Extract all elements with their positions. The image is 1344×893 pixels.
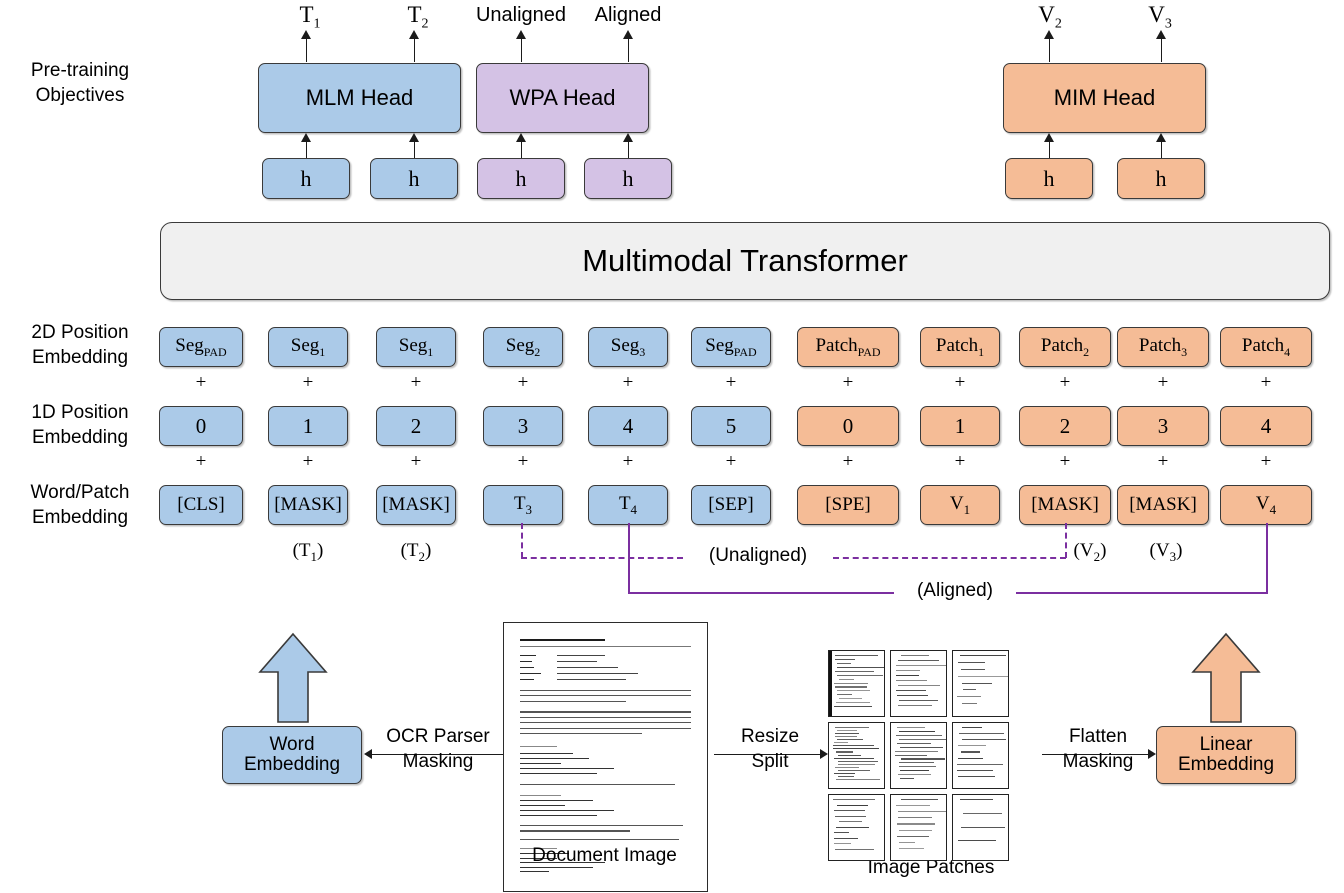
patch-text-line: [896, 735, 942, 736]
patch-text-line: [897, 823, 935, 824]
patch-text-line: [833, 748, 879, 749]
document-text-line: [520, 661, 532, 662]
patch-text-line: [897, 836, 929, 837]
hidden-state-box-4[interactable]: h: [584, 158, 672, 199]
pos1d-embedding-box-10[interactable]: 3: [1117, 406, 1209, 446]
pos2d-embedding-box-4[interactable]: Seg2: [483, 327, 563, 367]
pos2d-embedding-label: Patch3: [1139, 336, 1187, 358]
document-text-line: [557, 679, 626, 680]
token-alias-label-3: (T2): [371, 540, 461, 565]
pos2d-embedding-label: SegPAD: [705, 336, 756, 358]
plus-sign-1d-token-6: +: [716, 451, 746, 473]
pos2d-embedding-box-7[interactable]: PatchPAD: [797, 327, 899, 367]
patch-text-line: [962, 703, 977, 704]
pos2d-embedding-box-6[interactable]: SegPAD: [691, 327, 771, 367]
patch-text-line: [962, 739, 1006, 740]
h-to-head-line-4: [628, 140, 629, 158]
document-text-line: [520, 673, 540, 674]
document-text-line: [520, 825, 682, 826]
pos2d-embedding-label: Patch4: [1242, 336, 1290, 358]
pos1d-embedding-box-3[interactable]: 2: [376, 406, 456, 446]
patch-text-line: [897, 727, 925, 728]
patch-text-line: [958, 840, 995, 841]
pos2d-embedding-box-8[interactable]: Patch1: [920, 327, 1000, 367]
patch-text-line: [839, 821, 862, 822]
patch-text-line: [960, 655, 1006, 656]
patch-text-line: [896, 680, 927, 681]
patch-text-line: [901, 758, 945, 759]
patch-text-line: [839, 679, 854, 680]
word-patch-embedding-box-6[interactable]: [SEP]: [691, 485, 771, 525]
patch-text-line: [900, 747, 943, 748]
pos2d-embedding-box-5[interactable]: Seg3: [588, 327, 668, 367]
document-text-line: [520, 800, 593, 801]
pos2d-embedding-label: Seg2: [506, 336, 541, 358]
linear-embedding-up-arrow: [1191, 632, 1261, 724]
patch-text-line: [963, 813, 1003, 814]
hidden-state-box-3[interactable]: h: [477, 158, 565, 199]
word-patch-embedding-box-5[interactable]: T4: [588, 485, 668, 525]
word-patch-embedding-label: V4: [1256, 494, 1276, 516]
output-label-v2: V2: [1020, 2, 1080, 33]
pos1d-embedding-box-4[interactable]: 3: [483, 406, 563, 446]
document-text-line: [520, 810, 613, 811]
output-arrow-line-t1: [306, 36, 307, 62]
patch-text-line: [958, 758, 983, 759]
document-text-line: [520, 773, 597, 774]
word-patch-embedding-label: V1: [950, 494, 970, 516]
pos1d-embedding-box-5[interactable]: 4: [588, 406, 668, 446]
word-patch-embedding-label: [CLS]: [177, 495, 225, 515]
word-patch-embedding-label: [SEP]: [708, 495, 753, 515]
patch-text-line: [834, 832, 850, 833]
word-patch-embedding-label: [MASK]: [274, 495, 342, 515]
patch-text-line: [899, 830, 931, 831]
patch-text-line: [837, 694, 852, 695]
patch-text-line: [958, 776, 995, 777]
document-text-line: [520, 655, 536, 656]
patch-text-line: [833, 745, 874, 746]
patch-text-line: [837, 805, 868, 806]
token-alias-label-2: (T1): [263, 540, 353, 565]
patch-text-line: [899, 766, 936, 767]
document-text-line: [557, 655, 606, 656]
patch-text-line: [834, 742, 848, 743]
h-to-head-line-5: [1049, 140, 1050, 158]
plus-sign-1d-token-5: +: [613, 451, 643, 473]
patch-text-line: [835, 736, 857, 737]
word-patch-embedding-label: T3: [514, 494, 532, 516]
patch-text-line: [898, 705, 931, 706]
output-arrow-head-unaligned: [516, 30, 526, 39]
document-text-line: [520, 763, 561, 764]
unaligned-link-left-run: [521, 557, 683, 559]
patch-text-line: [898, 660, 939, 661]
image-patch-9[interactable]: [952, 794, 1009, 861]
patch-text-line: [835, 733, 859, 734]
document-text-line: [520, 758, 589, 759]
patch-text-line: [961, 751, 980, 752]
patch-text-line: [901, 799, 939, 800]
unaligned-link-left-stem: [521, 523, 523, 558]
patch-text-line: [836, 702, 870, 703]
document-text-line: [520, 768, 613, 769]
aligned-link-left-stem: [628, 523, 630, 593]
h-to-head-line-3: [521, 140, 522, 158]
patch-text-line: [899, 762, 934, 763]
patch-text-line: [895, 751, 938, 752]
document-text-line: [520, 711, 691, 712]
plus-sign-1d-token-3: +: [401, 451, 431, 473]
patch-text-line: [837, 739, 863, 740]
ocr-arrow-head: [364, 749, 372, 759]
patch-edge-bar: [829, 651, 832, 716]
word-patch-embedding-box-3[interactable]: [MASK]: [376, 485, 456, 525]
document-text-line: [520, 871, 548, 872]
pos2d-embedding-label: SegPAD: [175, 336, 226, 358]
pos2d-embedding-box-10[interactable]: Patch3: [1117, 327, 1209, 367]
patch-text-line: [896, 675, 918, 676]
patch-text-line: [897, 743, 931, 744]
mim-head-box[interactable]: MIM Head: [1003, 63, 1206, 133]
linear-embedding-box[interactable]: Linear Embedding: [1156, 726, 1296, 784]
plus-sign-2d-1d-9: +: [1050, 372, 1080, 394]
hidden-state-box-1[interactable]: h: [262, 158, 350, 199]
unaligned-link-label: (Unaligned): [683, 545, 833, 567]
output-arrow-head-v2: [1044, 30, 1054, 39]
pos1d-embedding-box-7[interactable]: 0: [797, 406, 899, 446]
document-text-line: [520, 746, 557, 747]
pos2d-embedding-box-11[interactable]: Patch4: [1220, 327, 1312, 367]
patch-text-line: [899, 842, 916, 843]
pos1d-embedding-box-11[interactable]: 4: [1220, 406, 1312, 446]
pos2d-embedding-label: Seg3: [611, 336, 646, 358]
patch-text-line: [899, 731, 935, 732]
document-text-line: [520, 722, 691, 723]
unaligned-link-right-run: [833, 557, 1066, 559]
patch-text-line: [957, 770, 993, 771]
h-to-head-line-2: [414, 140, 415, 158]
word-patch-embedding-box-7[interactable]: [SPE]: [797, 485, 899, 525]
patch-text-line: [960, 799, 993, 800]
patch-text-line: [898, 774, 932, 775]
plus-sign-1d-token-1: +: [186, 451, 216, 473]
patch-text-line: [898, 685, 940, 686]
pos2d-embedding-box-1[interactable]: SegPAD: [159, 327, 243, 367]
patch-text-line: [834, 810, 864, 811]
patch-text-line: [957, 696, 981, 697]
word-patch-embedding-label: [SPE]: [825, 495, 870, 515]
patch-text-line: [899, 700, 939, 701]
plus-sign-1d-token-9: +: [1050, 451, 1080, 473]
word-patch-embedding-box-8[interactable]: V1: [920, 485, 1000, 525]
h-to-head-arrow-1: [301, 133, 311, 142]
output-label-v3: V3: [1130, 2, 1190, 33]
document-text-line: [520, 805, 565, 806]
patch-text-line: [835, 767, 860, 768]
patch-text-line: [837, 730, 857, 731]
output-arrow-line-t2: [414, 36, 415, 62]
image-patch-2[interactable]: [890, 650, 947, 717]
patch-text-line: [834, 843, 851, 844]
document-text-line: [520, 753, 573, 754]
token-alias-label-10: (V3): [1121, 540, 1211, 565]
patch-text-line: [835, 849, 874, 850]
output-arrow-head-t1: [301, 30, 311, 39]
plus-sign-2d-1d-3: +: [401, 372, 431, 394]
pos2d-embedding-box-2[interactable]: Seg1: [268, 327, 348, 367]
h-to-head-arrow-6: [1156, 133, 1166, 142]
document-text-line: [520, 839, 678, 840]
output-arrow-head-t2: [409, 30, 419, 39]
output-label-unaligned: Unaligned: [458, 4, 584, 27]
patch-text-line: [897, 695, 928, 696]
unaligned-link-right-stem: [1065, 523, 1067, 558]
mlm-head-box[interactable]: MLM Head: [258, 63, 461, 133]
h-to-head-arrow-2: [409, 133, 419, 142]
patch-text-line: [962, 727, 982, 728]
pos1d-embedding-box-2[interactable]: 1: [268, 406, 348, 446]
document-image-label: Document Image: [503, 845, 706, 867]
pos2d-embedding-box-3[interactable]: Seg1: [376, 327, 456, 367]
document-text-line: [520, 795, 561, 796]
hidden-state-box-5[interactable]: h: [1005, 158, 1093, 199]
row-label-2d-position-embedding: 2D Position Embedding: [0, 320, 160, 370]
patch-text-line: [835, 816, 866, 817]
patch-text-line: [834, 706, 872, 707]
patch-text-line: [836, 827, 869, 828]
document-text-line: [520, 639, 605, 641]
patch-text-line: [901, 655, 929, 656]
word-patch-embedding-label: [MASK]: [382, 495, 450, 515]
document-text-line: [557, 661, 598, 662]
resize-split-label: Resize Split: [722, 724, 818, 774]
pos1d-embedding-box-9[interactable]: 2: [1019, 406, 1111, 446]
patch-text-line: [834, 838, 858, 839]
patch-text-line: [835, 671, 874, 672]
output-arrow-head-aligned: [623, 30, 633, 39]
hidden-state-box-6[interactable]: h: [1117, 158, 1205, 199]
patch-text-line: [899, 848, 924, 849]
word-patch-embedding-box-2[interactable]: [MASK]: [268, 485, 348, 525]
document-text-line: [520, 830, 630, 831]
document-text-line: [520, 679, 534, 680]
output-arrow-line-v3: [1161, 36, 1162, 62]
output-label-t1: T1: [280, 2, 340, 33]
patch-text-line: [838, 764, 875, 765]
patch-text-line: [839, 698, 862, 699]
plus-sign-1d-token-8: +: [945, 451, 975, 473]
patch-text-line: [838, 770, 870, 771]
patch-text-line: [899, 739, 946, 740]
multimodal-transformer-box[interactable]: Multimodal Transformer: [160, 222, 1330, 300]
patch-text-line: [837, 663, 851, 664]
patch-text-line: [837, 690, 870, 691]
output-arrow-line-unaligned: [521, 36, 522, 62]
patch-text-line: [833, 799, 875, 800]
patch-text-line: [959, 733, 1004, 734]
flatten-masking-label: Flatten Masking: [1046, 724, 1150, 774]
patch-text-line: [961, 827, 1005, 828]
pos2d-embedding-label: Patch2: [1041, 336, 1089, 358]
document-text-line: [520, 667, 534, 668]
h-to-head-arrow-5: [1044, 133, 1054, 142]
output-arrow-line-v2: [1049, 36, 1050, 62]
figure-canvas: { "figure": { "title": "LayoutLMv3 pre-t…: [0, 0, 1344, 893]
patch-text-line: [898, 817, 933, 818]
patch-text-line: [900, 778, 914, 779]
plus-sign-1d-token-4: +: [508, 451, 538, 473]
patch-text-line: [838, 776, 854, 777]
document-text-line: [520, 701, 626, 702]
plus-sign-1d-token-7: +: [833, 451, 863, 473]
plus-sign-1d-token-2: +: [293, 451, 323, 473]
patch-text-line: [837, 675, 883, 676]
output-label-aligned: Aligned: [576, 4, 680, 27]
aligned-link-left-run: [628, 592, 894, 594]
plus-sign-2d-1d-1: +: [186, 372, 216, 394]
word-patch-embedding-label: [MASK]: [1031, 495, 1099, 515]
image-patch-6[interactable]: [952, 722, 1009, 789]
patch-text-line: [958, 745, 985, 746]
document-text-line: [520, 717, 691, 718]
ocr-parser-masking-label: OCR Parser Masking: [372, 724, 504, 774]
word-patch-embedding-label: [MASK]: [1129, 495, 1197, 515]
image-patch-1[interactable]: [828, 650, 885, 717]
word-embedding-box[interactable]: Word Embedding: [222, 726, 362, 784]
document-text-line: [557, 667, 618, 668]
patch-text-line: [834, 683, 868, 684]
document-text-line: [557, 673, 638, 674]
patch-text-line: [836, 751, 853, 752]
patch-text-line: [896, 690, 926, 691]
wpa-head-box[interactable]: WPA Head: [476, 63, 649, 133]
output-arrow-head-v3: [1156, 30, 1166, 39]
patch-text-line: [898, 811, 946, 812]
word-embedding-up-arrow: [258, 632, 328, 724]
resize-arrow-head: [820, 749, 828, 759]
patch-text-line: [836, 779, 880, 780]
patch-text-line: [837, 667, 885, 668]
document-text-line: [520, 733, 642, 734]
pos2d-embedding-label: Seg1: [399, 336, 434, 358]
patch-text-line: [962, 683, 993, 684]
word-patch-embedding-box-4[interactable]: T3: [483, 485, 563, 525]
row-label-word-patch-embedding: Word/Patch Embedding: [0, 480, 160, 530]
aligned-link-label: (Aligned): [894, 580, 1016, 602]
pos2d-embedding-label: Patch1: [936, 336, 984, 358]
patch-text-line: [835, 686, 868, 687]
patch-text-line: [838, 755, 861, 756]
document-text-line: [520, 728, 691, 729]
image-patch-3[interactable]: [952, 650, 1009, 717]
image-patch-7[interactable]: [828, 794, 885, 861]
patch-text-line: [834, 758, 874, 759]
patch-text-line: [957, 764, 1003, 765]
plus-sign-2d-1d-11: +: [1251, 372, 1281, 394]
patch-text-line: [896, 665, 946, 666]
word-patch-embedding-box-9[interactable]: [MASK]: [1019, 485, 1111, 525]
document-text-line: [520, 815, 597, 816]
hidden-state-box-2[interactable]: h: [370, 158, 458, 199]
document-text-line: [520, 690, 691, 691]
patch-text-line: [896, 805, 931, 806]
patch-text-line: [961, 669, 985, 670]
patch-text-line: [895, 755, 927, 756]
patch-text-line: [900, 770, 929, 771]
patch-text-line: [835, 659, 855, 660]
row-label-1d-position-embedding: 1D Position Embedding: [0, 400, 160, 450]
image-patch-4[interactable]: [828, 722, 885, 789]
patch-text-line: [958, 676, 1009, 677]
word-patch-embedding-label: T4: [619, 494, 637, 516]
aligned-link-right-run: [1016, 592, 1268, 594]
word-patch-embedding-box-11[interactable]: V4: [1220, 485, 1312, 525]
h-to-head-line-6: [1161, 140, 1162, 158]
plus-sign-2d-1d-6: +: [716, 372, 746, 394]
pos1d-embedding-box-8[interactable]: 1: [920, 406, 1000, 446]
pos1d-embedding-box-1[interactable]: 0: [159, 406, 243, 446]
word-patch-embedding-box-10[interactable]: [MASK]: [1117, 485, 1209, 525]
plus-sign-2d-1d-2: +: [293, 372, 323, 394]
image-patch-5[interactable]: [890, 722, 947, 789]
image-patch-8[interactable]: [890, 794, 947, 861]
output-label-t2: T2: [388, 2, 448, 33]
plus-sign-1d-token-10: +: [1148, 451, 1178, 473]
plus-sign-2d-1d-7: +: [833, 372, 863, 394]
h-to-head-arrow-4: [623, 133, 633, 142]
pos2d-embedding-label: PatchPAD: [815, 336, 880, 358]
document-text-line: [520, 784, 674, 785]
patch-text-line: [834, 773, 855, 774]
document-text-line: [520, 646, 691, 647]
aligned-link-right-stem: [1266, 523, 1268, 593]
patch-text-line: [896, 670, 920, 671]
plus-sign-2d-1d-10: +: [1148, 372, 1178, 394]
pos2d-embedding-box-9[interactable]: Patch2: [1019, 327, 1111, 367]
h-to-head-line-1: [306, 140, 307, 158]
pos1d-embedding-box-6[interactable]: 5: [691, 406, 771, 446]
patch-text-line: [963, 689, 976, 690]
patch-text-line: [958, 662, 985, 663]
word-patch-embedding-box-1[interactable]: [CLS]: [159, 485, 243, 525]
output-arrow-line-aligned: [628, 36, 629, 62]
pos2d-embedding-label: Seg1: [291, 336, 326, 358]
patch-text-line: [835, 655, 877, 656]
h-to-head-arrow-3: [516, 133, 526, 142]
plus-sign-1d-token-11: +: [1251, 451, 1281, 473]
plus-sign-2d-1d-4: +: [508, 372, 538, 394]
patch-text-line: [835, 727, 869, 728]
patch-text-line: [838, 761, 878, 762]
plus-sign-2d-1d-5: +: [613, 372, 643, 394]
row-label-pretraining-objectives: Pre-training Objectives: [0, 58, 160, 108]
document-text-line: [520, 695, 691, 696]
plus-sign-2d-1d-8: +: [945, 372, 975, 394]
